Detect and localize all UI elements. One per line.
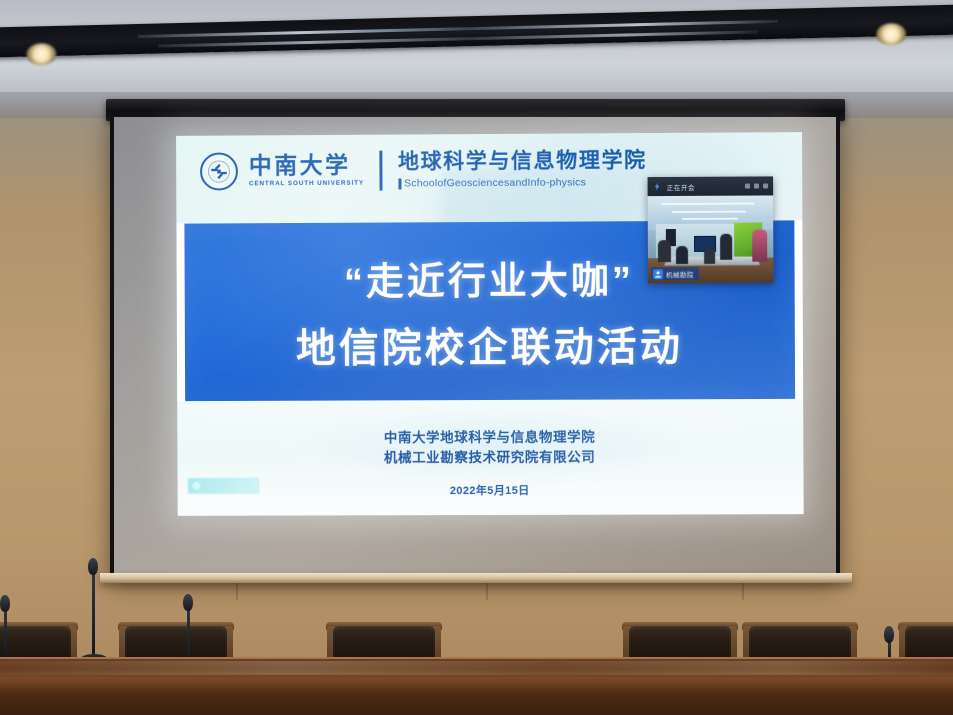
slide-footer: 中南大学地球科学与信息物理学院 机械工业勘察技术研究院有限公司 2022年5月1… bbox=[177, 399, 803, 516]
remote-participant-a bbox=[658, 240, 671, 262]
minimize-icon[interactable] bbox=[745, 184, 750, 189]
close-icon[interactable] bbox=[763, 183, 768, 188]
remote-ceiling-strip-3 bbox=[682, 218, 738, 220]
pip-window-title: 正在开会 bbox=[667, 181, 696, 191]
remote-participant-b bbox=[676, 246, 688, 264]
microphone-head bbox=[88, 558, 98, 575]
organizer-lines: 中南大学地球科学与信息物理学院 机械工业勘察技术研究院有限公司 bbox=[177, 427, 803, 468]
brand-lockup: 中南大学 CENTRAL SOUTH UNIVERSITY 地球科学与信息物理学… bbox=[200, 149, 647, 192]
pip-participant-label: 机械勘院 bbox=[651, 267, 699, 280]
tick-marker-icon bbox=[398, 178, 401, 189]
remote-ceiling-strip-2 bbox=[672, 211, 746, 213]
organizer-line-1: 中南大学地球科学与信息物理学院 bbox=[177, 427, 803, 449]
presentation-slide: 中南大学 CENTRAL SOUTH UNIVERSITY 地球科学与信息物理学… bbox=[176, 132, 804, 516]
slide-title-line-2: 地信院校企联动活动 bbox=[296, 314, 683, 374]
remote-participant-d bbox=[752, 230, 767, 262]
school-name-cn: 地球科学与信息物理学院 bbox=[398, 150, 647, 172]
school-name-block: 地球科学与信息物理学院 SchoolofGeosciencesandInfo-p… bbox=[398, 150, 647, 189]
school-name-en: SchoolofGeosciencesandInfo-physics bbox=[404, 178, 586, 190]
microphone-head bbox=[0, 595, 10, 612]
meeting-app-logo-icon bbox=[653, 182, 662, 191]
video-conference-window[interactable]: 正在开会 bbox=[648, 176, 774, 283]
remote-participant-e bbox=[704, 248, 715, 264]
person-avatar-icon bbox=[653, 269, 663, 279]
remote-participant-c bbox=[720, 234, 732, 260]
slide-title-line-1: “走近行业大咖” bbox=[344, 249, 634, 305]
maximize-icon[interactable] bbox=[754, 183, 759, 188]
csu-seal-icon bbox=[200, 152, 238, 190]
university-name-cn: 中南大学 bbox=[249, 154, 362, 178]
vertical-divider-icon bbox=[380, 151, 383, 191]
conference-table bbox=[0, 659, 953, 715]
pip-video-feed[interactable]: 机械勘院 bbox=[648, 195, 774, 283]
badge-dot-icon bbox=[192, 482, 200, 490]
beam-light-slit bbox=[138, 20, 778, 38]
microphone-stem bbox=[92, 571, 95, 657]
pip-participant-name: 机械勘院 bbox=[666, 269, 694, 279]
organizer-line-2: 机械工业勘察技术研究院有限公司 bbox=[177, 447, 803, 469]
school-name-en-row: SchoolofGeosciencesandInfo-physics bbox=[398, 177, 647, 189]
pip-title-bar[interactable]: 正在开会 bbox=[648, 176, 774, 196]
conference-room-photo: 中南大学 CENTRAL SOUTH UNIVERSITY 地球科学与信息物理学… bbox=[0, 0, 953, 715]
university-name-block: 中南大学 CENTRAL SOUTH UNIVERSITY bbox=[249, 154, 362, 188]
slide-date: 2022年5月15日 bbox=[178, 481, 804, 499]
pip-window-controls[interactable] bbox=[745, 183, 768, 188]
microphone-head bbox=[884, 626, 894, 643]
microphone-stem bbox=[4, 608, 7, 660]
microphone-head bbox=[183, 594, 193, 611]
university-name-en: CENTRAL SOUTH UNIVERSITY bbox=[249, 181, 364, 188]
slide-corner-badge bbox=[187, 478, 259, 494]
projector-screen-ledge bbox=[100, 573, 852, 583]
